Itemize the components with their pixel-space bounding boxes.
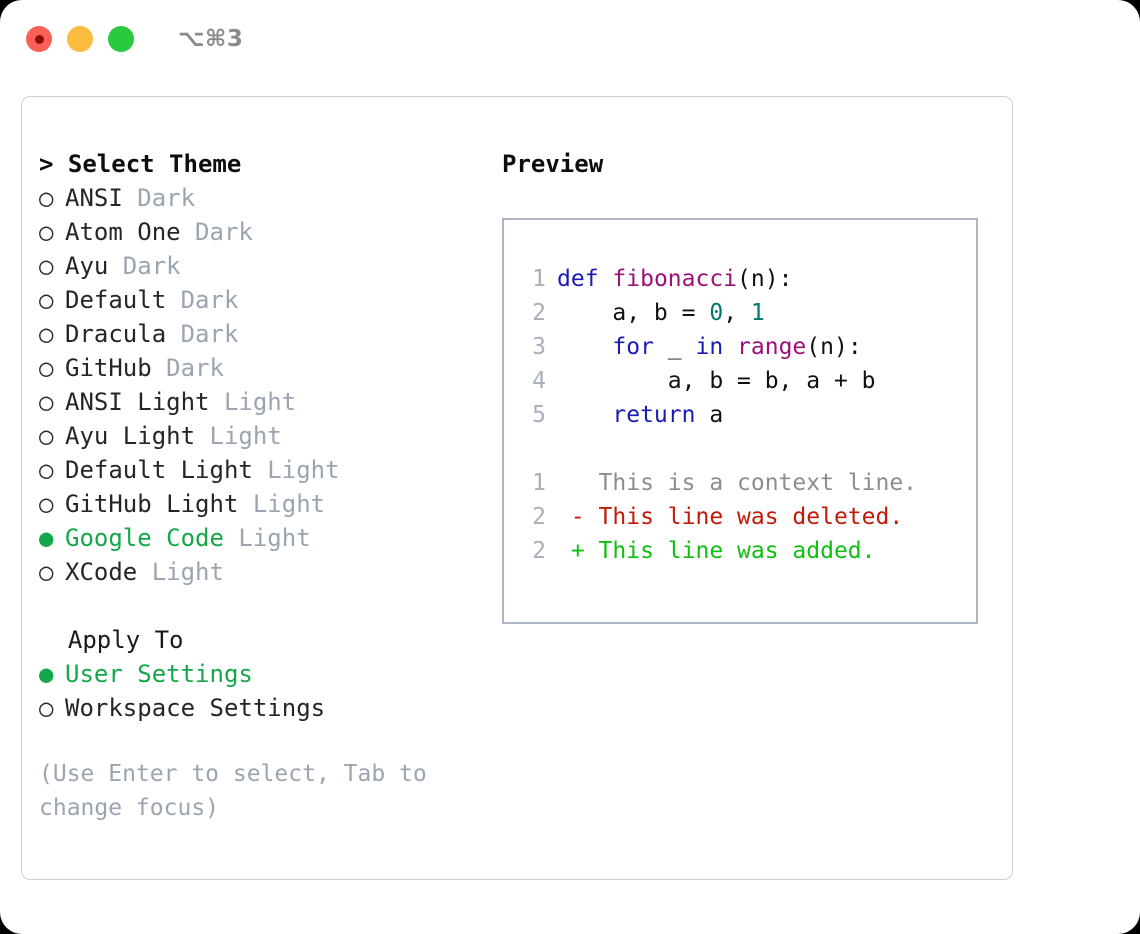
diff-line-text: + This line was added. — [557, 538, 876, 564]
theme-option-label: Google Code — [65, 524, 238, 552]
code-token-num: 1 — [751, 300, 765, 326]
minimize-window-button[interactable] — [67, 26, 93, 52]
code-line-number: 5 — [522, 398, 546, 432]
theme-variant-badge: Light — [238, 524, 310, 552]
theme-option-ayu[interactable]: ○ Ayu Dark — [39, 249, 489, 283]
theme-option-label: ANSI Light — [65, 388, 224, 416]
code-token-txt: a, b = — [557, 300, 709, 326]
theme-option-label: GitHub Light — [65, 490, 253, 518]
radio-unselected-icon: ○ — [39, 691, 65, 725]
title-bar: ⌥⌘3 — [0, 0, 1140, 78]
radio-unselected-icon: ○ — [39, 385, 65, 419]
radio-unselected-icon: ○ — [39, 215, 65, 249]
preview-heading: Preview — [502, 147, 1002, 181]
code-token-txt — [557, 402, 612, 428]
theme-option-ayu-light[interactable]: ○ Ayu Light Light — [39, 419, 489, 453]
theme-option-label: XCode — [65, 558, 152, 586]
preview-column: Preview 1def fibonacci(n):2 a, b = 0, 13… — [502, 147, 1002, 624]
theme-option-label: Ayu — [65, 252, 123, 280]
theme-option-default[interactable]: ○ Default Dark — [39, 283, 489, 317]
theme-variant-badge: Light — [224, 388, 296, 416]
diff-line-text: - This line was deleted. — [557, 504, 903, 530]
theme-variant-badge: Light — [152, 558, 224, 586]
code-line-number: 3 — [522, 330, 546, 364]
theme-option-dracula[interactable]: ○ Dracula Dark — [39, 317, 489, 351]
code-token-txt: , — [723, 300, 751, 326]
code-token-fn: range — [737, 334, 806, 360]
diff-line-del: 2 - This line was deleted. — [522, 500, 976, 534]
theme-option-ansi[interactable]: ○ ANSI Dark — [39, 181, 489, 215]
theme-variant-badge: Dark — [123, 252, 181, 280]
theme-option-github[interactable]: ○ GitHub Dark — [39, 351, 489, 385]
theme-option-atom-one[interactable]: ○ Atom One Dark — [39, 215, 489, 249]
apply-option-workspace-settings[interactable]: ○ Workspace Settings — [39, 691, 489, 725]
apply-option-user-settings[interactable]: ● User Settings — [39, 657, 489, 691]
theme-option-label: Default — [65, 286, 181, 314]
code-line-number: 2 — [522, 296, 546, 330]
theme-variant-badge: Dark — [181, 286, 239, 314]
theme-variant-badge: Light — [210, 422, 282, 450]
code-line: 5 return a — [522, 398, 976, 432]
main-panel: > Select Theme ○ ANSI Dark○ Atom One Dar… — [21, 96, 1013, 880]
diff-line-add: 2 + This line was added. — [522, 534, 976, 568]
apply-option-label: User Settings — [65, 660, 253, 688]
app-window: ⌥⌘3 > Select Theme ○ ANSI Dark○ Atom One… — [0, 0, 1140, 934]
code-token-txt: (n): — [737, 266, 792, 292]
maximize-window-button[interactable] — [108, 26, 134, 52]
theme-list: ○ ANSI Dark○ Atom One Dark○ Ayu Dark○ De… — [39, 181, 489, 589]
theme-option-default-light[interactable]: ○ Default Light Light — [39, 453, 489, 487]
code-token-txt: (n): — [806, 334, 861, 360]
code-line: 2 a, b = 0, 1 — [522, 296, 976, 330]
code-token-kw: def — [557, 266, 599, 292]
radio-selected-icon: ● — [39, 521, 65, 555]
code-line-number: 1 — [522, 262, 546, 296]
theme-option-label: GitHub — [65, 354, 166, 382]
diff-line-number: 2 — [522, 500, 546, 534]
code-token-txt: _ — [654, 334, 696, 360]
theme-option-github-light[interactable]: ○ GitHub Light Light — [39, 487, 489, 521]
keyboard-hint-text: (Use Enter to select, Tab to change focu… — [39, 757, 449, 825]
code-token-num: 0 — [709, 300, 723, 326]
radio-unselected-icon: ○ — [39, 249, 65, 283]
theme-variant-badge: Dark — [137, 184, 195, 212]
radio-unselected-icon: ○ — [39, 487, 65, 521]
code-token-kw: for — [612, 334, 654, 360]
theme-option-xcode[interactable]: ○ XCode Light — [39, 555, 489, 589]
radio-unselected-icon: ○ — [39, 555, 65, 589]
theme-option-ansi-light[interactable]: ○ ANSI Light Light — [39, 385, 489, 419]
code-token-txt: a, b = b, a + b — [557, 368, 876, 394]
theme-option-label: Atom One — [65, 218, 195, 246]
radio-unselected-icon: ○ — [39, 453, 65, 487]
code-token-txt — [723, 334, 737, 360]
code-line: 4 a, b = b, a + b — [522, 364, 976, 398]
diff-line-text: This is a context line. — [557, 470, 917, 496]
code-token-kw: return — [612, 402, 695, 428]
diff-line-number: 2 — [522, 534, 546, 568]
apply-option-label: Workspace Settings — [65, 694, 325, 722]
theme-variant-badge: Light — [267, 456, 339, 484]
list-spacer — [39, 589, 489, 623]
theme-option-label: Dracula — [65, 320, 181, 348]
code-line: 3 for _ in range(n): — [522, 330, 976, 364]
radio-unselected-icon: ○ — [39, 419, 65, 453]
code-token-txt: a — [695, 402, 723, 428]
code-sample: 1def fibonacci(n):2 a, b = 0, 13 for _ i… — [522, 262, 976, 432]
code-token-txt — [557, 334, 612, 360]
theme-option-google-code[interactable]: ● Google Code Light — [39, 521, 489, 555]
radio-unselected-icon: ○ — [39, 351, 65, 385]
code-line: 1def fibonacci(n): — [522, 262, 976, 296]
theme-option-label: Ayu Light — [65, 422, 210, 450]
code-line-number: 4 — [522, 364, 546, 398]
theme-variant-badge: Light — [253, 490, 325, 518]
keyboard-shortcut-label: ⌥⌘3 — [178, 26, 243, 52]
close-window-button[interactable] — [26, 26, 52, 52]
apply-to-list: ● User Settings○ Workspace Settings — [39, 657, 489, 725]
diff-sample: 1 This is a context line.2 - This line w… — [522, 466, 976, 568]
code-token-kw: in — [695, 334, 723, 360]
select-theme-heading: > Select Theme — [39, 147, 489, 181]
radio-unselected-icon: ○ — [39, 283, 65, 317]
code-preview-box: 1def fibonacci(n):2 a, b = 0, 13 for _ i… — [502, 218, 978, 624]
theme-option-label: ANSI — [65, 184, 137, 212]
code-diff-separator — [522, 432, 976, 466]
theme-variant-badge: Dark — [195, 218, 253, 246]
theme-selector-column: > Select Theme ○ ANSI Dark○ Atom One Dar… — [39, 147, 489, 825]
apply-to-heading: Apply To — [39, 623, 489, 657]
theme-variant-badge: Dark — [181, 320, 239, 348]
theme-option-label: Default Light — [65, 456, 267, 484]
radio-unselected-icon: ○ — [39, 317, 65, 351]
theme-variant-badge: Dark — [166, 354, 224, 382]
radio-selected-icon: ● — [39, 657, 65, 691]
code-token-fn: fibonacci — [612, 266, 737, 292]
diff-line-number: 1 — [522, 466, 546, 500]
diff-line-ctx: 1 This is a context line. — [522, 466, 976, 500]
code-token-txt — [599, 266, 613, 292]
radio-unselected-icon: ○ — [39, 181, 65, 215]
